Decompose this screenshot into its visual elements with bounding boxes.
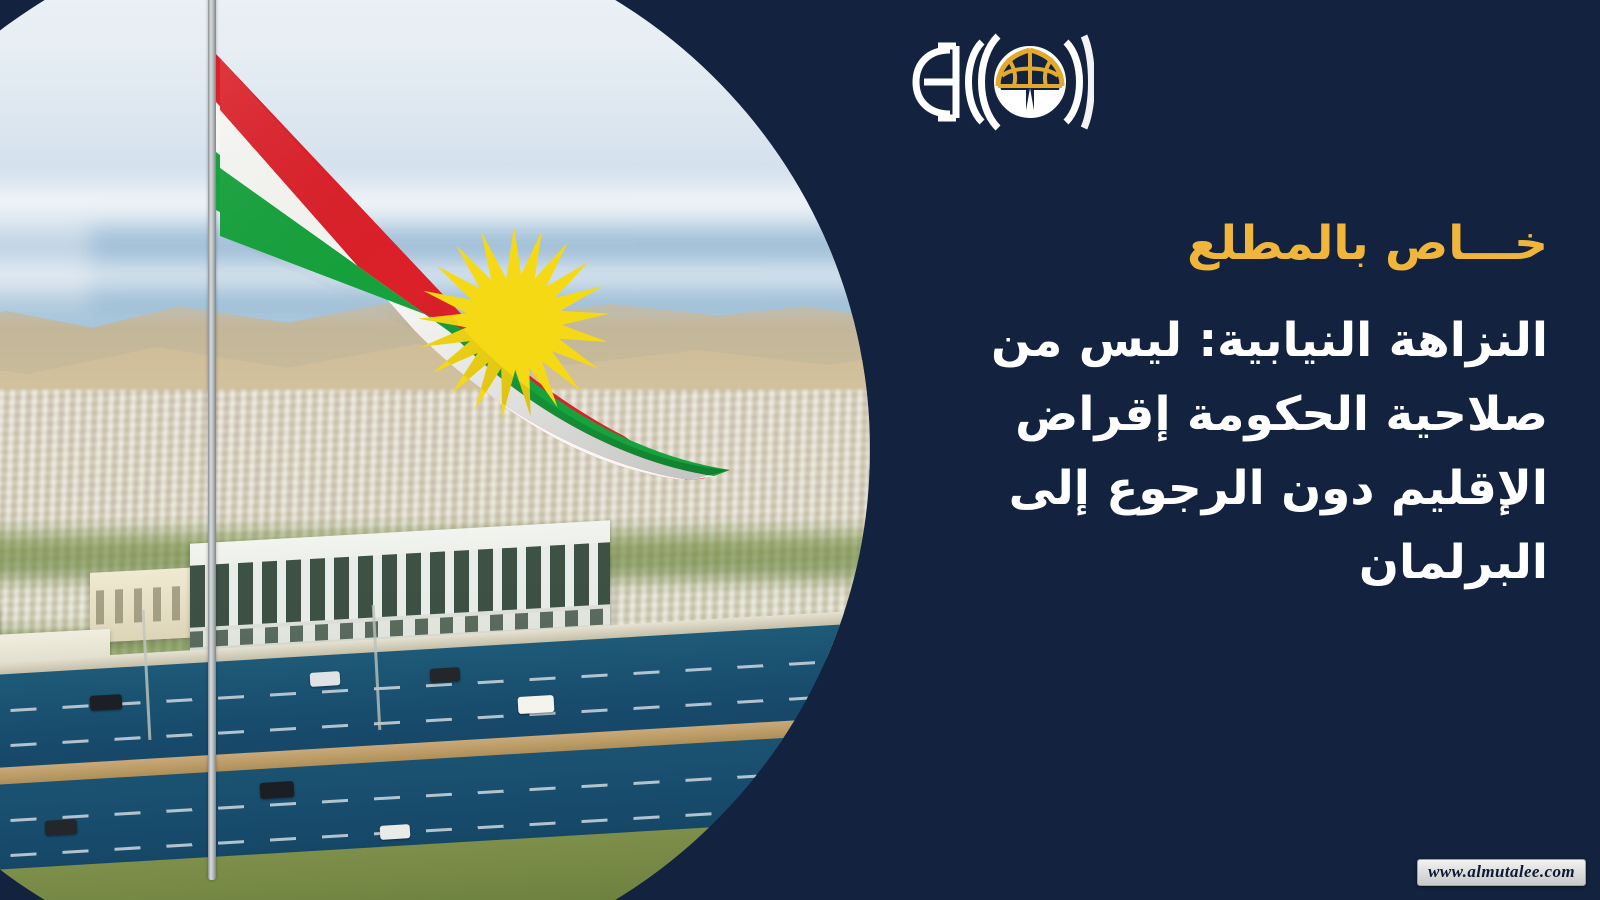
car [260,781,295,799]
headline: النزاهة النيابية: ليس من صلاحية الحكومة … [894,304,1548,601]
kicker-label: خـــاص بالمطلع [894,218,1548,270]
car [90,694,123,711]
car [45,819,78,836]
text-panel: خـــاص بالمطلع النزاهة النيابية: ليس من … [860,0,1600,900]
headline-line-4: البرلمان [906,526,1548,600]
kurdistan-flag-cityscape-photo [0,0,870,900]
news-card: خـــاص بالمطلع النزاهة النيابية: ليس من … [0,0,1600,900]
kurdistan-flag [214,40,774,480]
car [380,824,411,840]
car [430,667,461,683]
globe-icon [997,49,1063,116]
almutalee-globe-logo[interactable] [894,32,1094,132]
headline-line-1: النزاهة النيابية: ليس من [906,304,1548,378]
photo-oval-mask [0,0,870,900]
headline-line-3: الإقليم دون الرجوع إلى [906,452,1548,526]
car [310,671,341,687]
site-watermark: www.almutalee.com [1417,859,1586,886]
headline-line-2: صلاحية الحكومة إقراض [906,378,1548,452]
car [518,695,555,714]
